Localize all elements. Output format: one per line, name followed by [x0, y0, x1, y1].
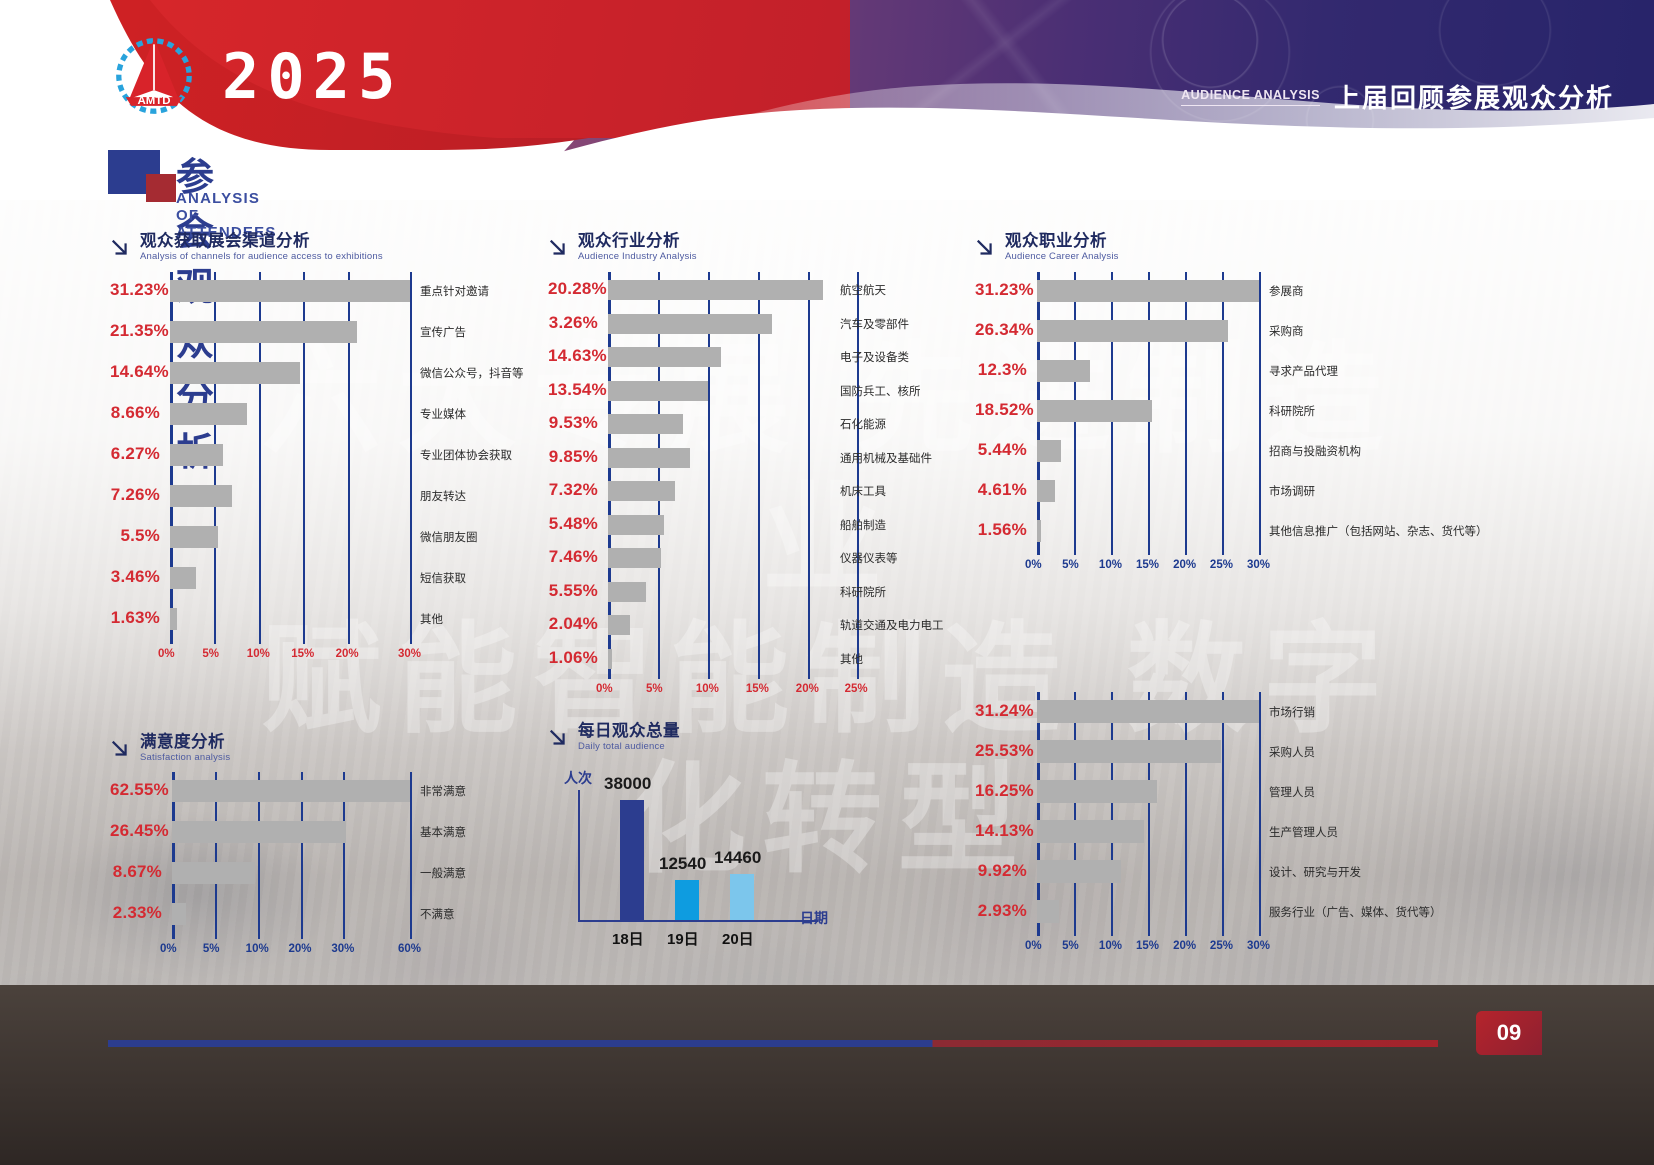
grid-line	[410, 772, 412, 939]
x-axis	[578, 920, 818, 922]
bar-category-label: 其他	[840, 651, 863, 667]
bar-category-label: 其他信息推广（包括网站、杂志、货代等）	[1269, 523, 1488, 539]
bar-value-label: 16.25%	[975, 781, 1027, 801]
bar	[172, 903, 186, 925]
axis-tick-label: 10%	[247, 648, 270, 660]
chart-title-satisfaction: 满意度分析 Satisfaction analysis	[110, 733, 230, 764]
bar-category-label: 微信朋友圈	[420, 529, 478, 545]
bar-category-label: 航空航天	[840, 282, 886, 298]
bar	[1037, 700, 1259, 723]
grid-line	[410, 272, 412, 644]
bar-value-label: 31.23%	[110, 280, 160, 300]
bar-value-label: 14.64%	[110, 362, 160, 382]
grid-line	[1074, 692, 1076, 936]
footer-divider	[108, 1040, 1438, 1047]
bar-category-label: 仪器仪表等	[840, 550, 898, 566]
bar-value-label: 1.63%	[110, 608, 160, 628]
chart-title-channels: 观众获取展会渠道分析 Analysis of channels for audi…	[110, 232, 383, 263]
bar-category-label: 采购商	[1269, 323, 1304, 339]
axis-tick-label: 60%	[398, 943, 421, 955]
bar-category-label: 其他	[420, 611, 443, 627]
bar-category-label: 专业团体协会获取	[420, 447, 512, 463]
chart-title-cn: 观众职业分析	[1005, 232, 1119, 251]
arrow-down-right-icon	[548, 726, 570, 750]
column-value-label: 14460	[714, 848, 761, 868]
column-value-label: 38000	[604, 774, 651, 794]
bar	[170, 321, 357, 343]
bar	[170, 362, 300, 384]
axis-tick-label: 25%	[1210, 940, 1233, 952]
bar	[608, 515, 664, 535]
axis-tick-label: 30%	[331, 943, 354, 955]
bar-category-label: 市场调研	[1269, 483, 1315, 499]
bar	[1037, 440, 1061, 462]
axis-tick-label: 30%	[1247, 559, 1270, 571]
header-title-cn: 上届回顾参展观众分析	[1334, 78, 1614, 115]
bar-category-label: 一般满意	[420, 865, 466, 881]
chart-title-daily: 每日观众总量 Daily total audience	[548, 722, 680, 753]
bar	[608, 314, 772, 334]
bar-category-label: 专业媒体	[420, 406, 466, 422]
axis-tick-label: 0%	[158, 648, 175, 660]
column-category-label: 20日	[722, 928, 754, 949]
axis-tick-label: 25%	[1210, 559, 1233, 571]
bar-category-label: 参展商	[1269, 283, 1304, 299]
column-bar	[675, 880, 699, 920]
axis-baseline	[1037, 692, 1040, 936]
chart-title-en: Satisfaction analysis	[140, 752, 230, 764]
axis-tick-label: 10%	[1099, 940, 1122, 952]
axis-tick-label: 15%	[746, 683, 769, 695]
column-value-label: 12540	[659, 854, 706, 874]
bar-category-label: 船舶制造	[840, 517, 886, 533]
chart-title-cn: 每日观众总量	[578, 722, 680, 741]
axis-tick-label: 0%	[1025, 559, 1042, 571]
bar-value-label: 14.13%	[975, 821, 1027, 841]
axis-tick-label: 10%	[696, 683, 719, 695]
chart-daily-audience: 人次日期3800018日1254019日1446020日	[560, 760, 860, 955]
year-label: 2025	[222, 40, 403, 113]
bar-value-label: 5.44%	[975, 440, 1027, 460]
grid-line	[1111, 692, 1113, 936]
axis-tick-label: 20%	[1173, 559, 1196, 571]
bar-category-label: 非常满意	[420, 783, 466, 799]
chart-title-en: Daily total audience	[578, 741, 680, 753]
bar	[172, 821, 346, 843]
bar	[608, 381, 708, 401]
axis-tick-label: 20%	[1173, 940, 1196, 952]
column-bar	[730, 874, 754, 920]
column-category-label: 19日	[667, 928, 699, 949]
bar-category-label: 招商与投融资机构	[1269, 443, 1361, 459]
bar-value-label: 9.92%	[975, 861, 1027, 881]
bar-category-label: 轨道交通及电力电工	[840, 617, 944, 633]
axis-tick-label: 5%	[1062, 940, 1079, 952]
chart-title-en: Audience Industry Analysis	[578, 251, 697, 263]
y-axis	[578, 790, 580, 920]
bar-value-label: 9.85%	[548, 447, 598, 467]
grid-line	[1222, 692, 1224, 936]
bar	[1037, 780, 1157, 803]
bar	[1037, 360, 1090, 382]
bar	[170, 608, 177, 630]
axis-tick-label: 20%	[289, 943, 312, 955]
bar-value-label: 5.55%	[548, 581, 598, 601]
arrow-down-right-icon	[110, 236, 132, 260]
bar	[170, 280, 410, 302]
bar-value-label: 5.5%	[110, 526, 160, 546]
grid-line	[1185, 692, 1187, 936]
arrow-down-right-icon	[975, 236, 997, 260]
bar-value-label: 8.66%	[110, 403, 160, 423]
axis-tick-label: 10%	[246, 943, 269, 955]
bar-value-label: 2.04%	[548, 614, 598, 634]
header-eyebrow: AUDIENCE ANALYSIS	[1181, 88, 1320, 106]
chart-title-cn: 观众行业分析	[578, 232, 697, 251]
bar-category-label: 基本满意	[420, 824, 466, 840]
axis-tick-label: 0%	[160, 943, 177, 955]
bar	[608, 481, 675, 501]
bar-category-label: 服务行业（广告、媒体、货代等）	[1269, 904, 1442, 920]
svg-text:AMTD: AMTD	[137, 95, 170, 107]
bar-value-label: 31.23%	[975, 280, 1027, 300]
axis-tick-label: 30%	[398, 648, 421, 660]
chart-title-en: Audience Career Analysis	[1005, 251, 1119, 263]
bar	[1037, 860, 1121, 883]
bar-value-label: 62.55%	[110, 780, 162, 800]
y-axis-title: 人次	[564, 768, 592, 788]
bar	[1037, 820, 1144, 843]
bar-category-label: 微信公众号，抖音等	[420, 365, 524, 381]
amtd-logo-icon: AMTD	[110, 32, 198, 120]
axis-tick-label: 10%	[1099, 559, 1122, 571]
bar	[172, 780, 410, 802]
poster-page: 六大专展 先进制造业赋能智能制造 数字化转型 AMTD 2025 AUDIENC…	[0, 0, 1654, 1165]
bar-category-label: 科研院所	[840, 584, 886, 600]
bar-category-label: 不满意	[420, 906, 455, 922]
chart-satisfaction: 62.55%非常满意26.45%基本满意8.67%一般满意2.33%不满意0%5…	[110, 772, 530, 952]
bar	[608, 649, 612, 669]
bar-value-label: 18.52%	[975, 400, 1027, 420]
bar-value-label: 7.32%	[548, 480, 598, 500]
bar-value-label: 20.28%	[548, 279, 598, 299]
bar-value-label: 8.67%	[110, 862, 162, 882]
grid-line	[808, 272, 810, 679]
chart-title-career: 观众职业分析 Audience Career Analysis	[975, 232, 1119, 263]
bar-value-label: 4.61%	[975, 480, 1027, 500]
axis-tick-label: 20%	[796, 683, 819, 695]
bar	[608, 347, 721, 367]
page-header: AMTD 2025 AUDIENCE ANALYSIS 上届回顾参展观众分析	[0, 0, 1654, 196]
bar-category-label: 通用机械及基础件	[840, 450, 932, 466]
bar-value-label: 9.53%	[548, 413, 598, 433]
grid-line	[1259, 692, 1261, 936]
bar-value-label: 5.48%	[548, 514, 598, 534]
header-right-group: AUDIENCE ANALYSIS 上届回顾参展观众分析	[1181, 78, 1614, 115]
bar-value-label: 26.45%	[110, 821, 162, 841]
bar-value-label: 1.06%	[548, 648, 598, 668]
bar	[1037, 400, 1152, 422]
bar	[608, 582, 646, 602]
chart-industry: 20.28%航空航天3.26%汽车及零部件14.63%电子及设备类13.54%国…	[548, 272, 948, 682]
bar	[1037, 740, 1221, 763]
bar-value-label: 3.46%	[110, 567, 160, 587]
bar	[608, 548, 661, 568]
axis-tick-label: 25%	[845, 683, 868, 695]
bar-category-label: 采购人员	[1269, 744, 1315, 760]
bar-value-label: 3.26%	[548, 313, 598, 333]
chart-title-cn: 满意度分析	[140, 733, 230, 752]
bar	[608, 414, 683, 434]
grid-line	[1148, 692, 1150, 936]
column-bar	[620, 800, 644, 920]
bar	[1037, 320, 1228, 342]
axis-tick-label: 15%	[291, 648, 314, 660]
bar	[1037, 480, 1055, 502]
bar	[170, 403, 247, 425]
bar-category-label: 重点针对邀请	[420, 283, 489, 299]
bar-value-label: 25.53%	[975, 741, 1027, 761]
chart-channels: 31.23%重点针对邀请21.35%宣传广告14.64%微信公众号，抖音等8.6…	[110, 272, 530, 662]
x-axis-title: 日期	[800, 908, 828, 928]
bar	[170, 567, 196, 589]
bar-category-label: 短信获取	[420, 570, 466, 586]
bar-value-label: 31.24%	[975, 701, 1027, 721]
bar-category-label: 科研院所	[1269, 403, 1315, 419]
bar-value-label: 12.3%	[975, 360, 1027, 380]
bar-category-label: 寻求产品代理	[1269, 363, 1338, 379]
axis-tick-label: 15%	[1136, 940, 1159, 952]
bar-value-label: 13.54%	[548, 380, 598, 400]
decor-square-red	[146, 174, 176, 202]
bar-category-label: 设计、研究与开发	[1269, 864, 1361, 880]
axis-tick-label: 5%	[203, 943, 220, 955]
bar-category-label: 汽车及零部件	[840, 316, 909, 332]
bar-category-label: 市场行销	[1269, 704, 1315, 720]
bar	[608, 615, 630, 635]
axis-tick-label: 15%	[1136, 559, 1159, 571]
bar-category-label: 宣传广告	[420, 324, 466, 340]
bar-category-label: 管理人员	[1269, 784, 1315, 800]
chart-title-cn: 观众获取展会渠道分析	[140, 232, 383, 251]
bar	[608, 280, 823, 300]
bar	[170, 444, 223, 466]
bar-category-label: 石化能源	[840, 416, 886, 432]
bar-value-label: 6.27%	[110, 444, 160, 464]
chart-career: 31.23%参展商26.34%采购商12.3%寻求产品代理18.52%科研院所5…	[975, 272, 1445, 572]
chart-title-industry: 观众行业分析 Audience Industry Analysis	[548, 232, 697, 263]
bar-value-label: 21.35%	[110, 321, 160, 341]
axis-tick-label: 0%	[1025, 940, 1042, 952]
grid-line	[1185, 272, 1187, 555]
bar-value-label: 1.56%	[975, 520, 1027, 540]
axis-tick-label: 5%	[646, 683, 663, 695]
bar	[1037, 520, 1041, 542]
bar	[608, 448, 690, 468]
bar-category-label: 机床工具	[840, 483, 886, 499]
arrow-down-right-icon	[110, 737, 132, 761]
axis-tick-label: 20%	[336, 648, 359, 660]
chart-career-roles: 31.24%市场行销25.53%采购人员16.25%管理人员14.13%生产管理…	[975, 692, 1445, 952]
chart-title-en: Analysis of channels for audience access…	[140, 251, 383, 263]
bar-value-label: 7.26%	[110, 485, 160, 505]
bar-category-label: 生产管理人员	[1269, 824, 1338, 840]
column-category-label: 18日	[612, 928, 644, 949]
bar-category-label: 朋友转达	[420, 488, 466, 504]
bar-category-label: 国防兵工、核所	[840, 383, 921, 399]
grid-line	[1222, 272, 1224, 555]
bar-value-label: 2.93%	[975, 901, 1027, 921]
axis-tick-label: 30%	[1247, 940, 1270, 952]
axis-tick-label: 5%	[1062, 559, 1079, 571]
grid-line	[1259, 272, 1261, 555]
bar	[1037, 900, 1059, 923]
bar-value-label: 2.33%	[110, 903, 162, 923]
axis-tick-label: 5%	[202, 648, 219, 660]
bar-value-label: 7.46%	[548, 547, 598, 567]
bar-category-label: 电子及设备类	[840, 349, 909, 365]
bar	[1037, 280, 1259, 302]
bar-value-label: 14.63%	[548, 346, 598, 366]
arrow-down-right-icon	[548, 236, 570, 260]
axis-tick-label: 0%	[596, 683, 613, 695]
bar	[170, 485, 232, 507]
page-number-badge: 09	[1476, 1011, 1542, 1055]
footer-photo-strip	[0, 985, 1654, 1165]
bar	[170, 526, 218, 548]
bar	[172, 862, 255, 884]
bar-value-label: 26.34%	[975, 320, 1027, 340]
